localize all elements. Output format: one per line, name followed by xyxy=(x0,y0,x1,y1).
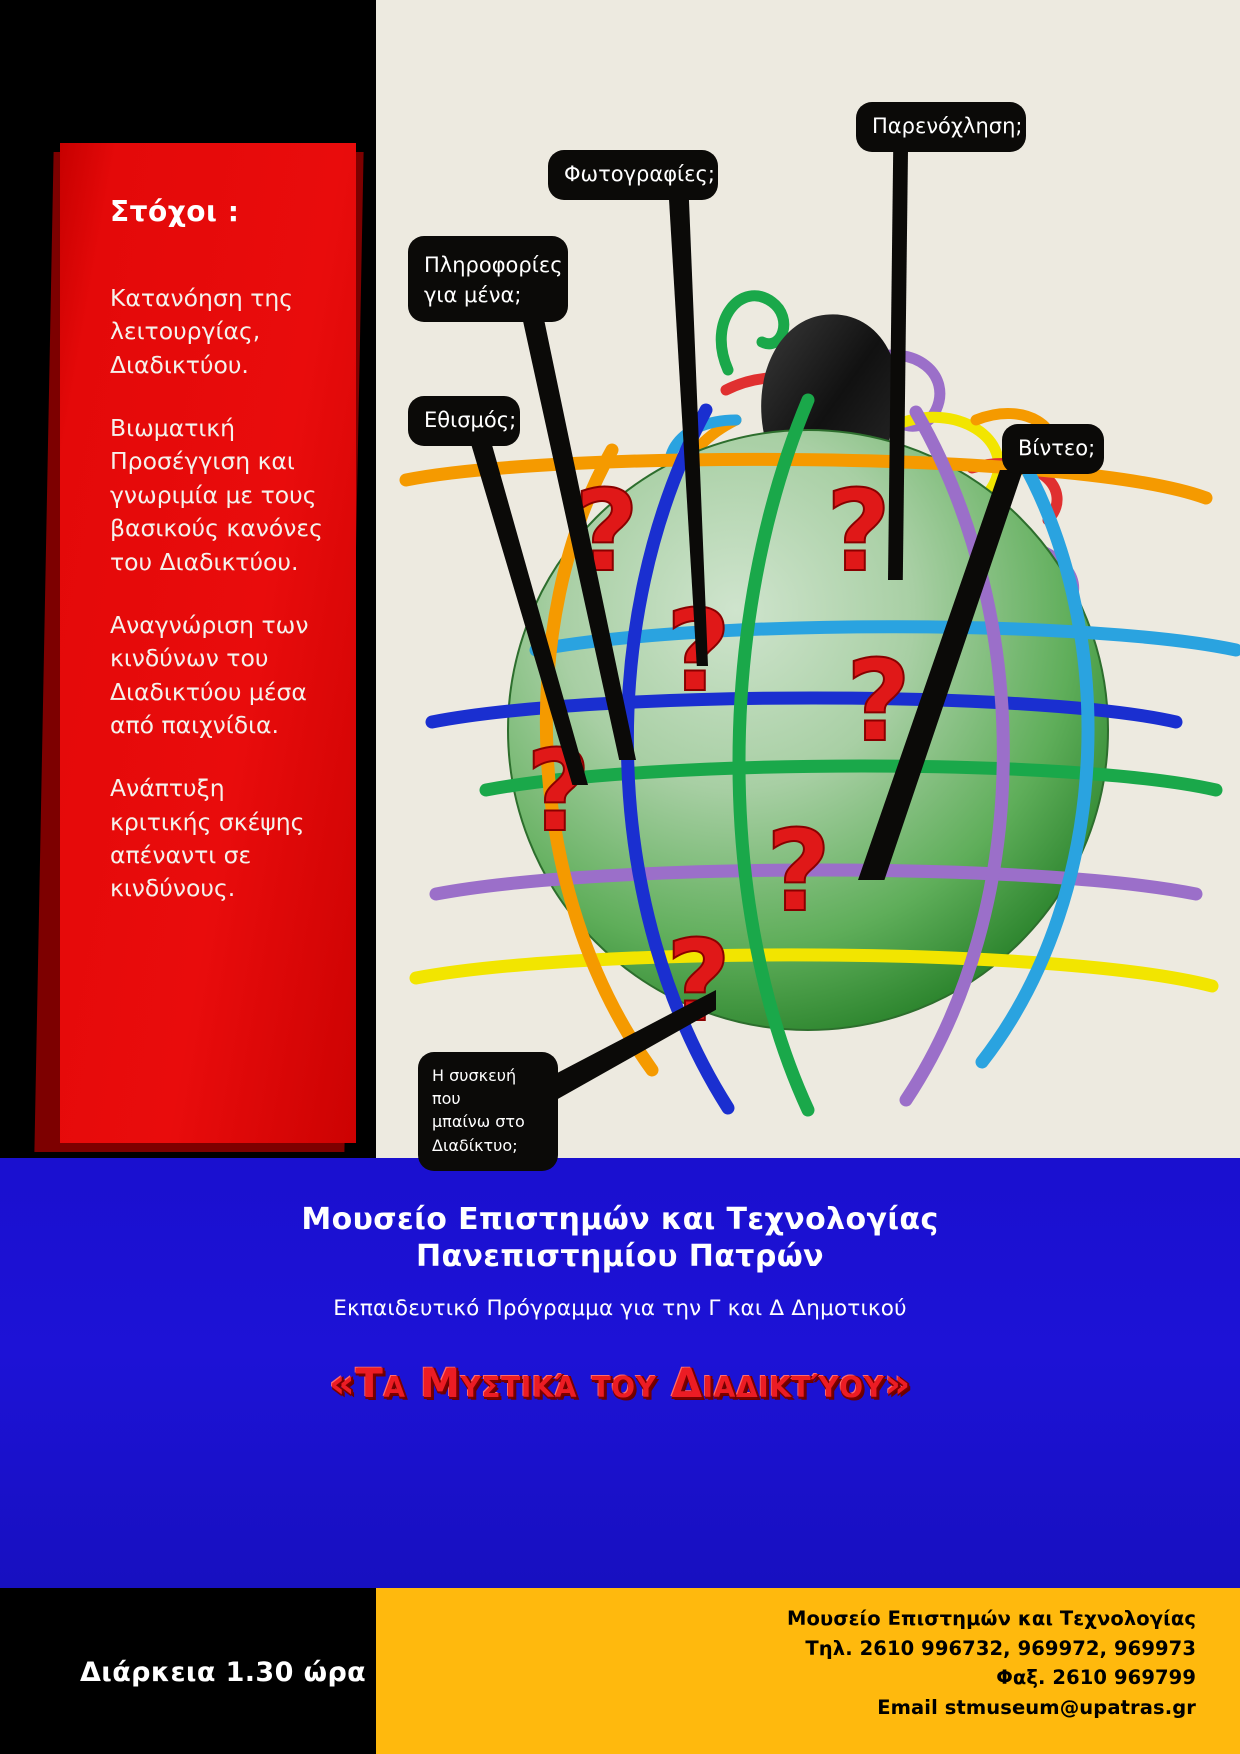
contact-phone: Τηλ. 2610 996732, 969972, 969973 xyxy=(376,1634,1196,1664)
bubble-vinteo[interactable]: Βίντεο; xyxy=(1002,424,1104,474)
globe-question-mark: ? xyxy=(526,727,591,857)
contact-organization: Μουσείο Επιστημών και Τεχνολογίας xyxy=(376,1604,1196,1634)
goals-item: Ανάπτυξη κριτικής σκέψης απέναντι σε κιν… xyxy=(110,772,330,905)
globe-question-mark: ? xyxy=(846,637,911,767)
contact-box: Μουσείο Επιστημών και Τεχνολογίας Τηλ. 2… xyxy=(376,1588,1240,1754)
poster-top-section: ? ? ? ? ? ? ? Παρενόχληση; Φωτογραφίες; … xyxy=(0,0,1240,1160)
organization-line-1: Μουσείο Επιστημών και Τεχνολογίας xyxy=(0,1158,1240,1237)
poster-main-title: «Τα Μυστικά του Διαδικτύου» xyxy=(0,1361,1240,1407)
bubble-ethismos[interactable]: Εθισμός; xyxy=(408,396,520,446)
duration-label: Διάρκεια 1.30 ώρα xyxy=(80,1657,366,1688)
goals-item: Αναγνώριση των κινδύνων του Διαδικτύου μ… xyxy=(110,609,330,742)
contact-email[interactable]: Email stmuseum@upatras.gr xyxy=(376,1693,1196,1723)
globe-question-mark: ? xyxy=(826,467,891,597)
goals-item: Βιωματική Προσέγγιση και γνωριμία με του… xyxy=(110,412,330,579)
bubble-plirofories[interactable]: Πληροφορίες για μένα; xyxy=(408,236,568,322)
contact-fax: Φαξ. 2610 969799 xyxy=(376,1663,1196,1693)
globe-question-mark: ? xyxy=(766,807,831,937)
bubble-syskevi[interactable]: Η συσκευή που μπαίνω στο Διαδίκτυο; xyxy=(418,1052,558,1171)
program-description: Εκπαιδευτικό Πρόγραμμα για την Γ και Δ Δ… xyxy=(0,1296,1240,1321)
poster-root: ? ? ? ? ? ? ? Παρενόχληση; Φωτογραφίες; … xyxy=(0,0,1240,1754)
bubble-fotografies[interactable]: Φωτογραφίες; xyxy=(548,150,718,200)
organization-line-2: Πανεπιστημίου Πατρών xyxy=(0,1239,1240,1274)
footer-blue-band: Μουσείο Επιστημών και Τεχνολογίας Πανεπι… xyxy=(0,1158,1240,1588)
goals-item: Κατανόηση της λειτουργίας, Διαδικτύου. xyxy=(110,282,330,382)
bubble-parenoxlisi[interactable]: Παρενόχληση; xyxy=(856,102,1026,152)
goals-title: Στόχοι : xyxy=(110,195,330,228)
goals-panel: Στόχοι : Κατανόηση της λειτουργίας, Διαδ… xyxy=(60,143,356,1143)
